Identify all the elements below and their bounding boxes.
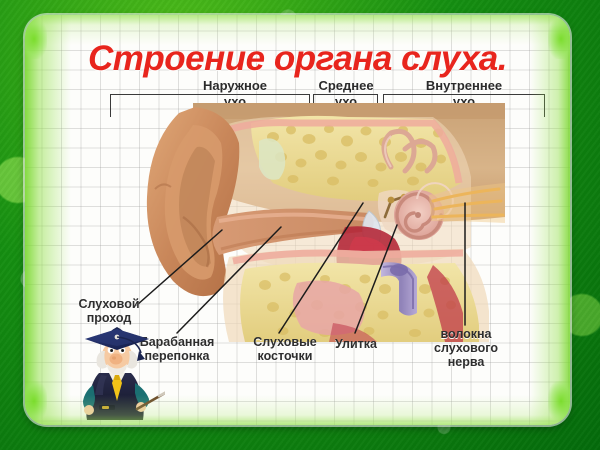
- callout-auditory-nerve-line3: нерва: [417, 355, 515, 369]
- callout-ossicles-line1: Слуховые: [237, 335, 333, 349]
- callout-cochlea-line1: Улитка: [325, 337, 387, 351]
- section-inner-line1: Внутреннее: [383, 78, 545, 93]
- ear-anatomy-illustration: [133, 97, 505, 342]
- content-panel: Строение органа слуха. Наружное ухо Сред…: [25, 15, 570, 425]
- slide-root: Строение органа слуха. Наружное ухо Сред…: [0, 0, 600, 450]
- professor-mascot: [69, 321, 165, 425]
- callout-auditory-nerve: волокна слухового нерва: [417, 327, 515, 369]
- section-middle-line1: Среднее: [303, 78, 389, 93]
- callout-ear-canal-line1: Слуховой: [63, 297, 155, 311]
- callout-auditory-nerve-line1: волокна: [417, 327, 515, 341]
- callout-ossicles: Слуховые косточки: [237, 335, 333, 363]
- callout-auditory-nerve-line2: слухового: [417, 341, 515, 355]
- page-title: Строение органа слуха.: [25, 39, 570, 79]
- callout-ossicles-line2: косточки: [237, 349, 333, 363]
- callout-cochlea: Улитка: [325, 337, 387, 351]
